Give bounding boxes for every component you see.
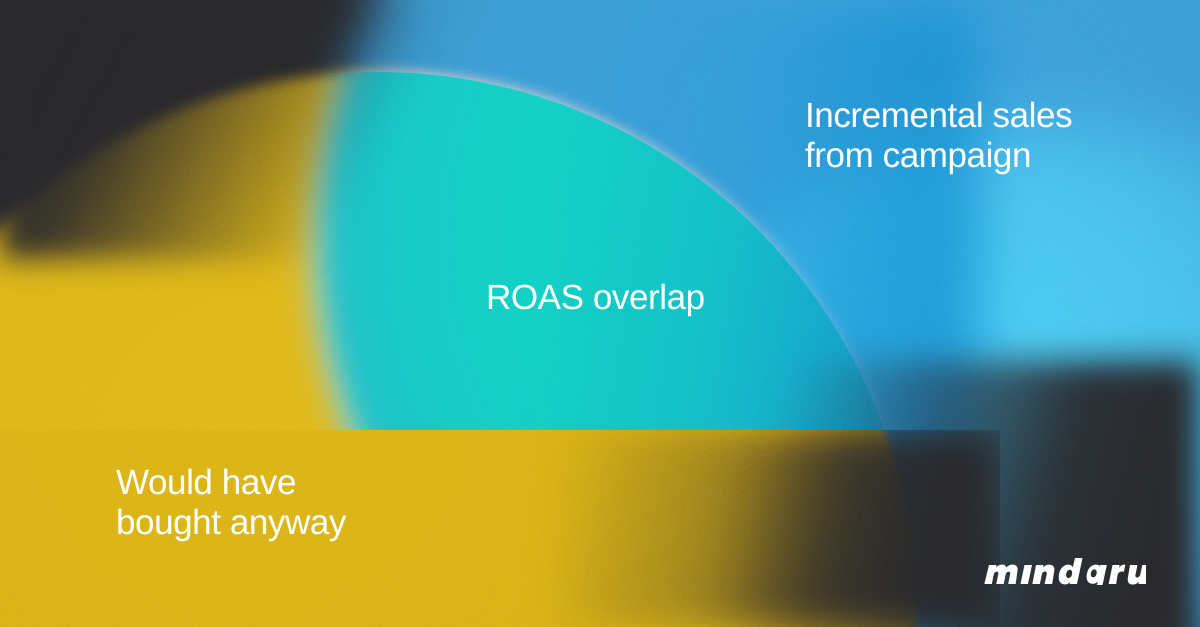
graphic-canvas: Incremental sales from campaign ROAS ove…	[0, 0, 1200, 627]
mindgruve-wordmark-icon	[982, 557, 1146, 585]
label-roas-overlap: ROAS overlap	[486, 278, 705, 318]
label-would-have-bought-anyway: Would have bought anyway	[116, 463, 346, 542]
label-incremental-sales: Incremental sales from campaign	[805, 96, 1072, 175]
mindgruve-logo	[982, 557, 1146, 585]
